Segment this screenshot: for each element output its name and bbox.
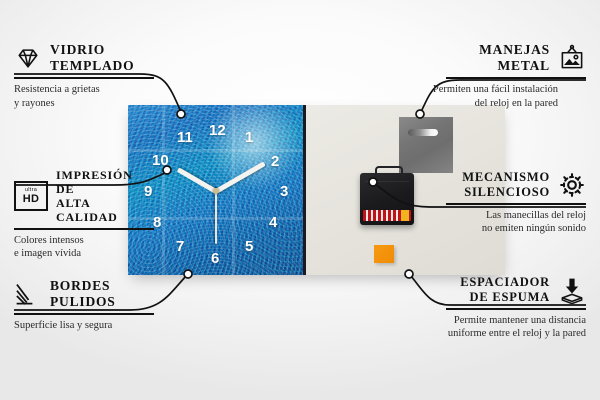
callout-mecanismo-silencioso: MECANISMO SILENCIOSO Las manecillas del … bbox=[446, 170, 586, 236]
mechanism-yellow-chip bbox=[401, 210, 409, 221]
callout-sub-line1: Colores intensos bbox=[14, 234, 154, 248]
clock-center-pin bbox=[213, 188, 219, 194]
clock-numeral-11: 11 bbox=[177, 130, 193, 145]
callout-impresion-alta-calidad: ultra HD IMPRESIÓN DE ALTA CALIDAD Color… bbox=[14, 168, 154, 261]
callout-rule bbox=[14, 228, 154, 230]
ultra-hd-icon-bottom: HD bbox=[23, 194, 40, 205]
metal-hanger-plate bbox=[399, 117, 453, 173]
callout-sub-line2: e imagen vívida bbox=[14, 247, 154, 261]
callout-sub-line1: Permite mantener una distancia bbox=[420, 314, 586, 328]
callout-sub-line2: uniforme entre el reloj y la pared bbox=[420, 327, 586, 341]
clock-second-hand bbox=[215, 192, 217, 244]
face-grid-line bbox=[162, 105, 165, 275]
callout-title-line1: IMPRESIÓN DE bbox=[56, 168, 154, 196]
callout-title-line2: ALTA CALIDAD bbox=[56, 196, 154, 224]
clock-numeral-4: 4 bbox=[269, 215, 277, 230]
callout-sub-line2: no emiten ningún sonido bbox=[436, 222, 586, 236]
clock-numeral-5: 5 bbox=[245, 239, 253, 254]
callout-title-line1: MANEJAS bbox=[479, 42, 550, 58]
callout-sub-line1: Superficie lisa y segura bbox=[14, 319, 154, 333]
foam-spacer-square bbox=[374, 245, 394, 263]
face-grid-line bbox=[232, 105, 235, 275]
clock-numeral-6: 6 bbox=[211, 251, 219, 266]
clock-numeral-8: 8 bbox=[153, 215, 161, 230]
callout-title-line2: METAL bbox=[479, 58, 550, 74]
polished-edges-icon bbox=[14, 280, 42, 308]
callout-rule bbox=[14, 313, 154, 315]
callout-rule bbox=[446, 308, 586, 310]
picture-hanger-icon bbox=[558, 44, 586, 72]
foam-spacer-icon bbox=[558, 276, 586, 304]
diamond-icon bbox=[14, 44, 42, 72]
clock-numeral-10: 10 bbox=[152, 153, 169, 168]
quartz-mechanism-box bbox=[360, 173, 414, 225]
clock-numeral-1: 1 bbox=[245, 130, 253, 145]
callout-title-line1: MECANISMO bbox=[462, 170, 550, 185]
clock-face-panel: 12 1 2 3 4 5 6 7 8 9 10 11 bbox=[128, 105, 303, 275]
callout-title-line1: BORDES bbox=[50, 278, 116, 294]
clock-numeral-12: 12 bbox=[209, 123, 226, 138]
callout-sub-line1: Las manecillas del reloj bbox=[436, 209, 586, 223]
callout-sub-line1: Resistencia a grietas bbox=[14, 83, 154, 97]
infographic-canvas: 12 1 2 3 4 5 6 7 8 9 10 11 bbox=[0, 0, 600, 400]
hanger-keyhole-slot bbox=[408, 129, 438, 136]
callout-title-line2: SILENCIOSO bbox=[462, 185, 550, 200]
callout-rule bbox=[14, 77, 154, 79]
mechanism-seam bbox=[365, 181, 409, 182]
callout-espaciador-de-espuma: ESPACIADOR DE ESPUMA Permite mantener un… bbox=[446, 275, 586, 341]
callout-sub-line2: del reloj en la pared bbox=[418, 97, 558, 111]
mechanism-hook bbox=[375, 166, 403, 178]
callout-rule bbox=[446, 77, 586, 79]
clock-numeral-2: 2 bbox=[271, 154, 279, 169]
callout-title-line2: DE ESPUMA bbox=[460, 290, 550, 305]
clock-numeral-3: 3 bbox=[280, 184, 288, 199]
callout-bordes-pulidos: BORDES PULIDOS Superficie lisa y segura bbox=[14, 278, 154, 333]
clock-numeral-7: 7 bbox=[176, 239, 184, 254]
callout-title-line2: PULIDOS bbox=[50, 294, 116, 310]
gear-icon bbox=[558, 171, 586, 199]
ultra-hd-icon: ultra HD bbox=[14, 181, 48, 211]
callout-manejas-metal: MANEJAS METAL Permiten una fácil instala… bbox=[446, 42, 586, 111]
callout-title-line2: TEMPLADO bbox=[50, 58, 134, 74]
callout-sub-line1: Permiten una fácil instalación bbox=[418, 83, 558, 97]
callout-title-line1: ESPACIADOR bbox=[460, 275, 550, 290]
callout-vidrio-templado: VIDRIO TEMPLADO Resistencia a grietas y … bbox=[14, 42, 154, 111]
callout-rule bbox=[446, 203, 586, 205]
callout-title-line1: VIDRIO bbox=[50, 42, 134, 58]
callout-sub-line2: y rayones bbox=[14, 97, 154, 111]
